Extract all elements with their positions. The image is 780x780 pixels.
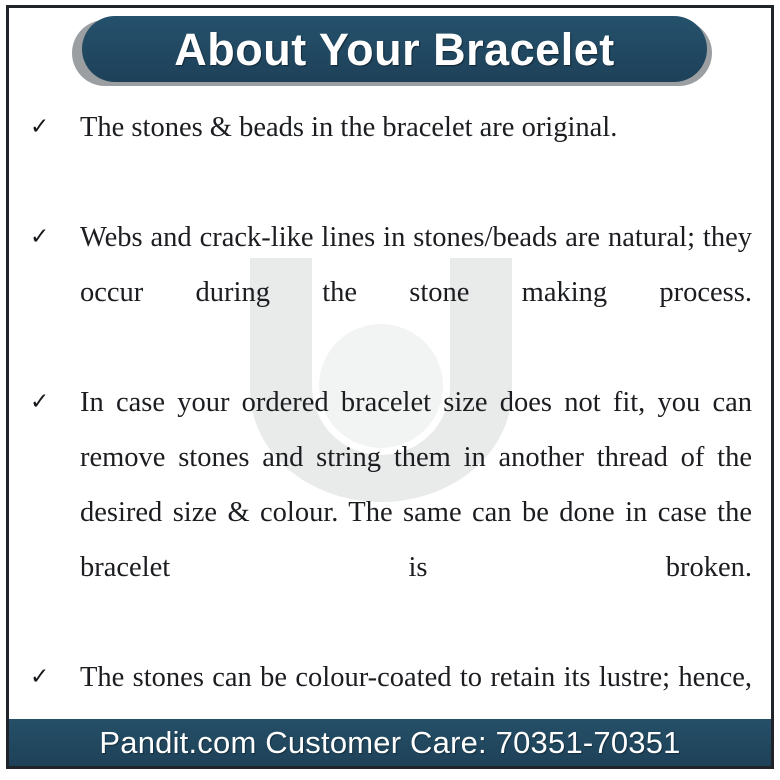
- check-icon: ✓: [24, 210, 80, 265]
- header-banner: About Your Bracelet: [0, 14, 780, 92]
- list-item-text: In case your ordered bracelet size does …: [80, 375, 756, 650]
- list-item: ✓ The stones & beads in the bracelet are…: [0, 100, 780, 210]
- list-item-text: The stones & beads in the bracelet are o…: [80, 100, 756, 210]
- list-item: ✓ Webs and crack-like lines in stones/be…: [0, 210, 780, 375]
- banner-pill: About Your Bracelet: [82, 16, 707, 82]
- check-icon: ✓: [24, 650, 80, 705]
- care-instructions-list: ✓ The stones & beads in the bracelet are…: [0, 100, 780, 780]
- page-title: About Your Bracelet: [174, 27, 614, 72]
- list-item-text: Webs and crack-like lines in stones/bead…: [80, 210, 756, 375]
- list-item: ✓ In case your ordered bracelet size doe…: [0, 375, 780, 650]
- about-your-bracelet-card: About Your Bracelet ✓ The stones & beads…: [0, 0, 780, 780]
- check-icon: ✓: [24, 375, 80, 430]
- check-icon: ✓: [24, 100, 80, 155]
- customer-care-footer: Pandit.com Customer Care: 70351-70351: [9, 719, 771, 766]
- customer-care-text: Pandit.com Customer Care: 70351-70351: [99, 727, 680, 758]
